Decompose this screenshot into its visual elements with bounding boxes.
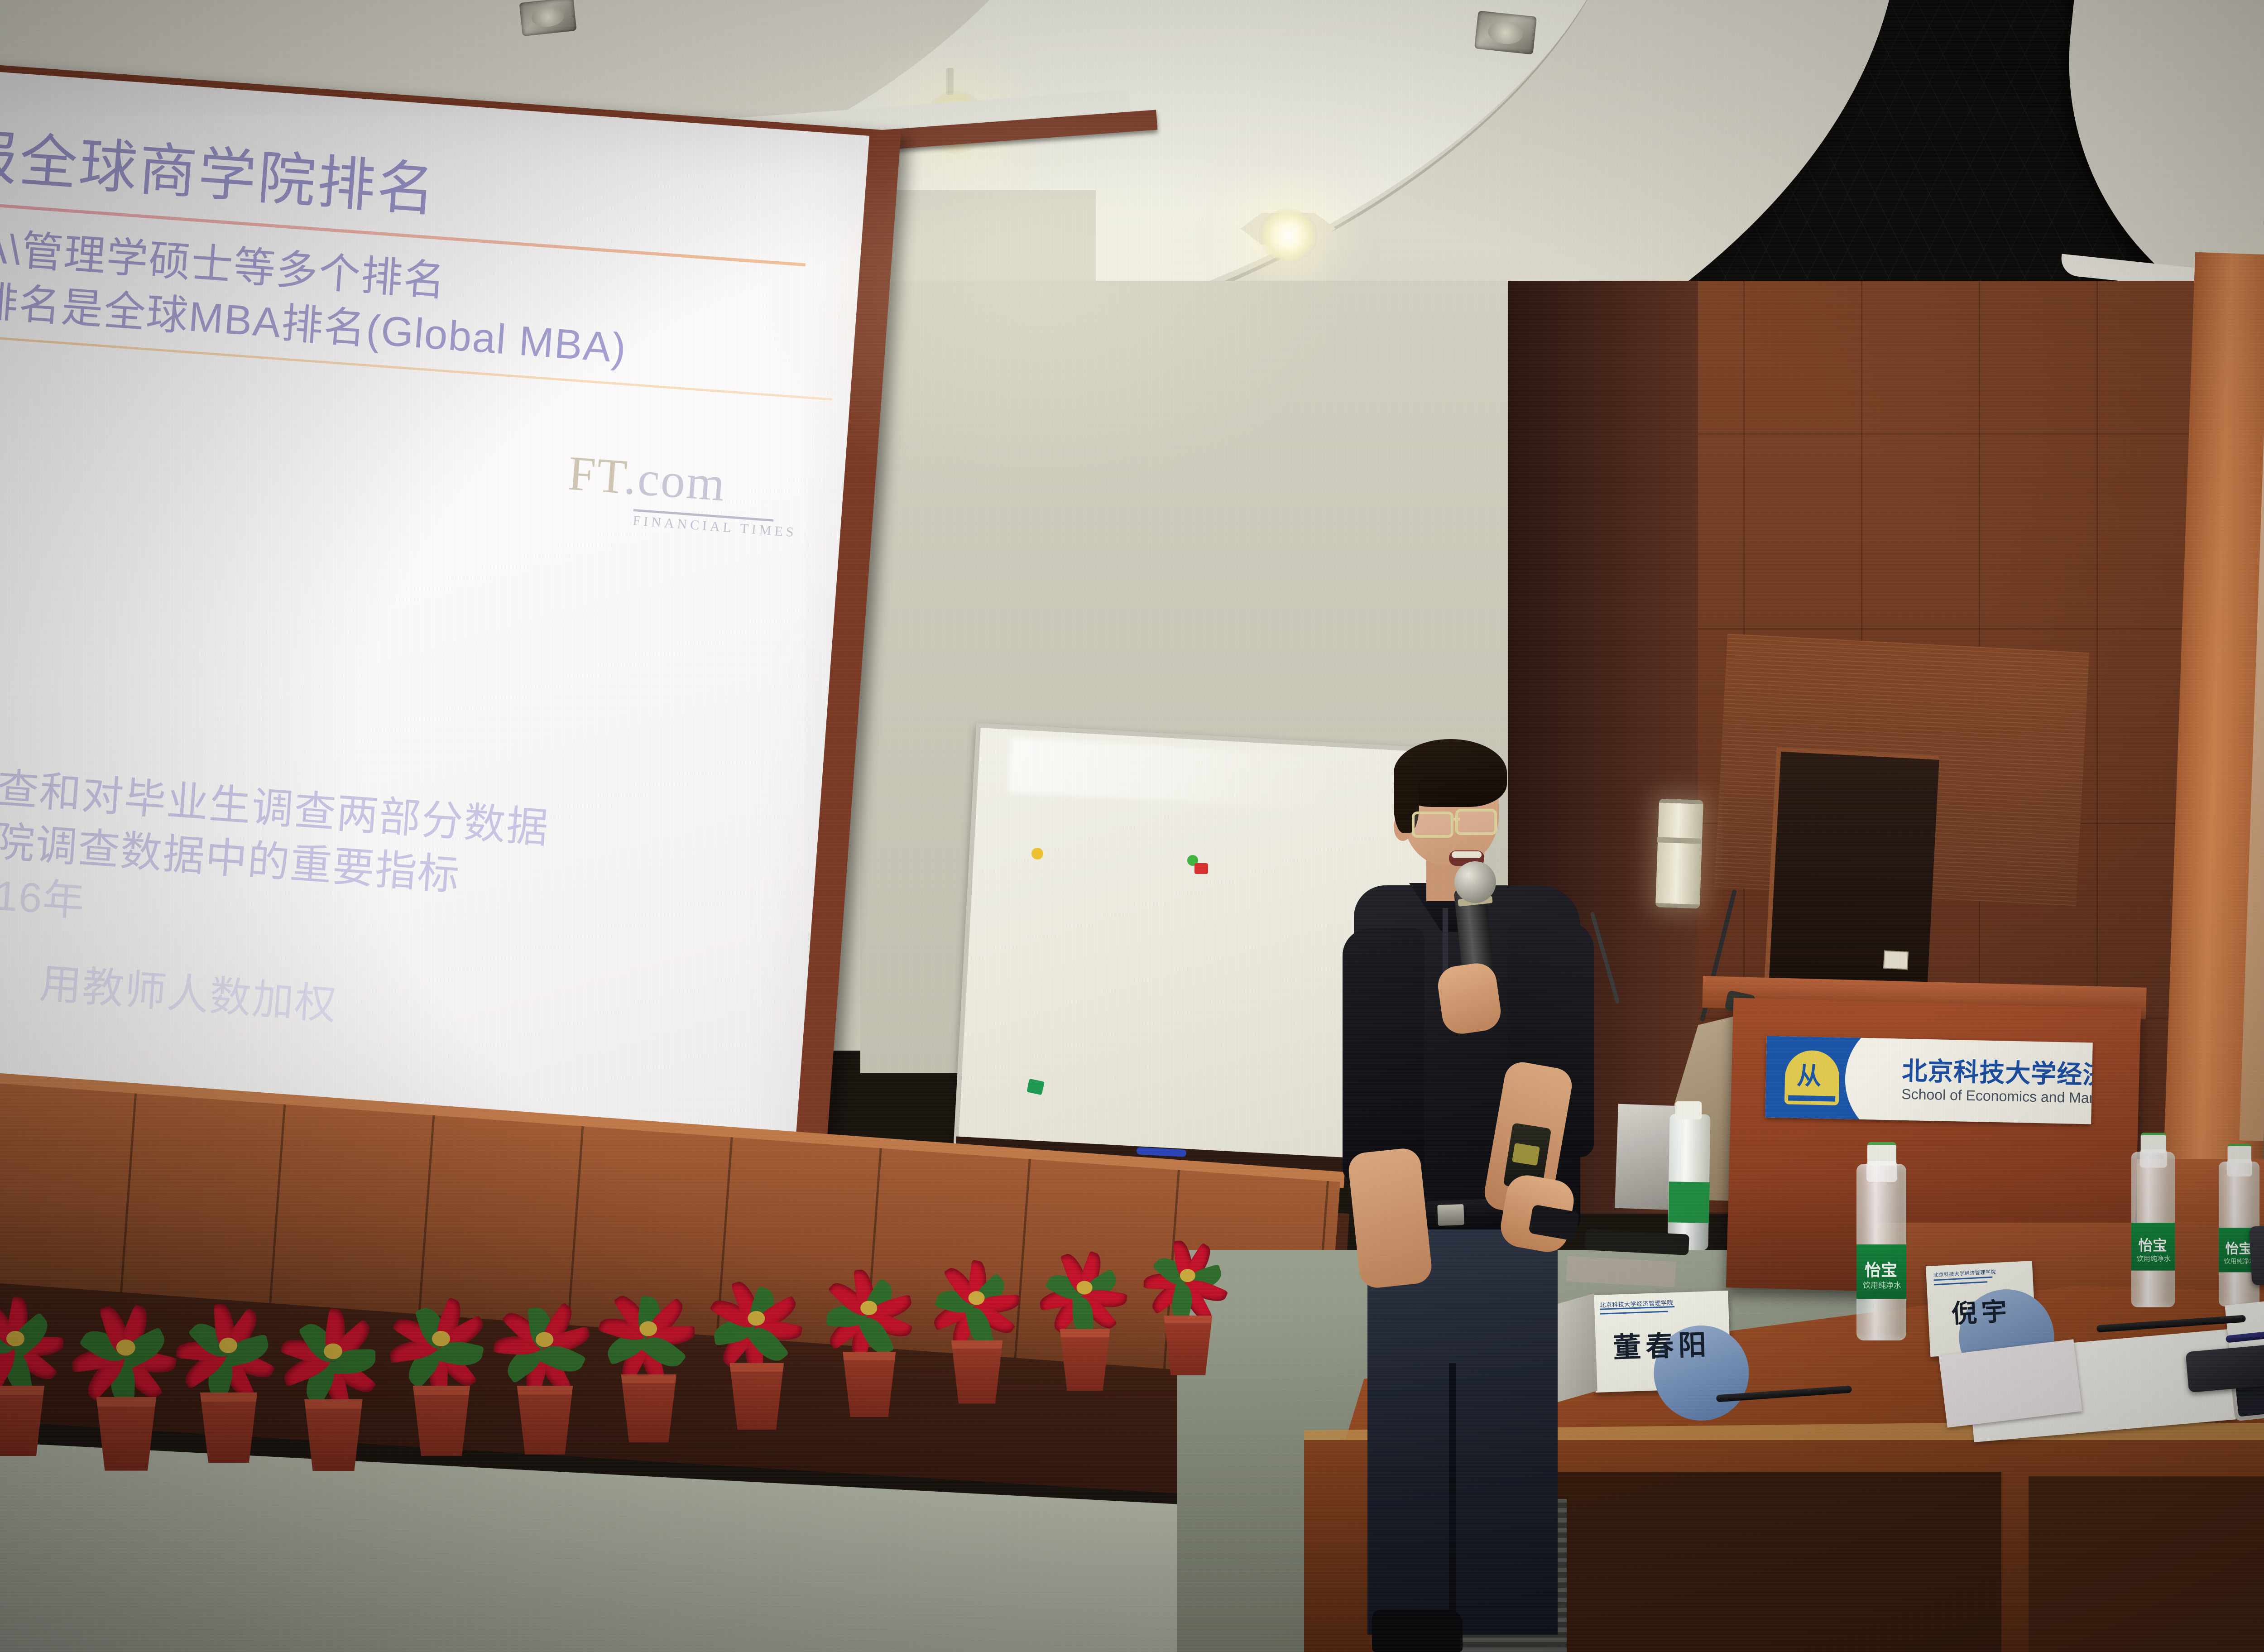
photo-scene: 报全球商学院排名 A\管理学硕士等多个排名 排名是全球MBA排名(Global …: [0, 0, 2264, 1652]
photo-grain: [0, 0, 2264, 1652]
